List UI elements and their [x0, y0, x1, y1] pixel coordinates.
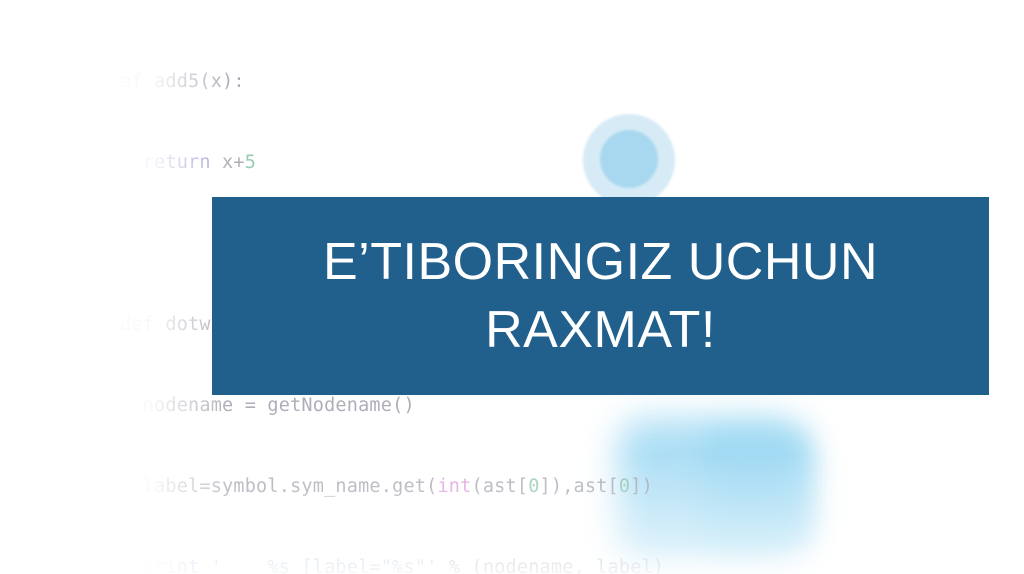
code-token-keyword: print	[120, 557, 199, 574]
code-token-number: 5	[245, 152, 256, 173]
code-token-keyword: return	[143, 152, 211, 173]
code-token-text: add5(x):	[143, 71, 245, 92]
code-line: return x+5	[120, 149, 980, 176]
code-token-string: ' %s [label="%s"'	[199, 557, 437, 574]
code-token-number: 0	[528, 476, 539, 497]
slide-canvas: ef add5(x): return x+5 def dotwrite(ast)…	[0, 0, 1024, 574]
code-line: ef add5(x):	[120, 68, 980, 95]
code-line: print ' %s [label="%s"' % (nodename, lab…	[120, 554, 980, 574]
code-line: label=symbol.sym_name.get(int(ast[0]),as…	[120, 473, 980, 500]
code-token-builtin: int	[437, 476, 471, 497]
code-line: nodename = getNodename()	[120, 392, 980, 419]
code-token-number: 0	[619, 476, 630, 497]
thank-you-banner: E’TIBORINGIZ UCHUN RAXMAT!	[212, 197, 989, 395]
code-token-keyword: def	[120, 314, 154, 335]
code-token-keyword: ef	[120, 71, 143, 92]
banner-headline: E’TIBORINGIZ UCHUN RAXMAT!	[323, 228, 878, 364]
